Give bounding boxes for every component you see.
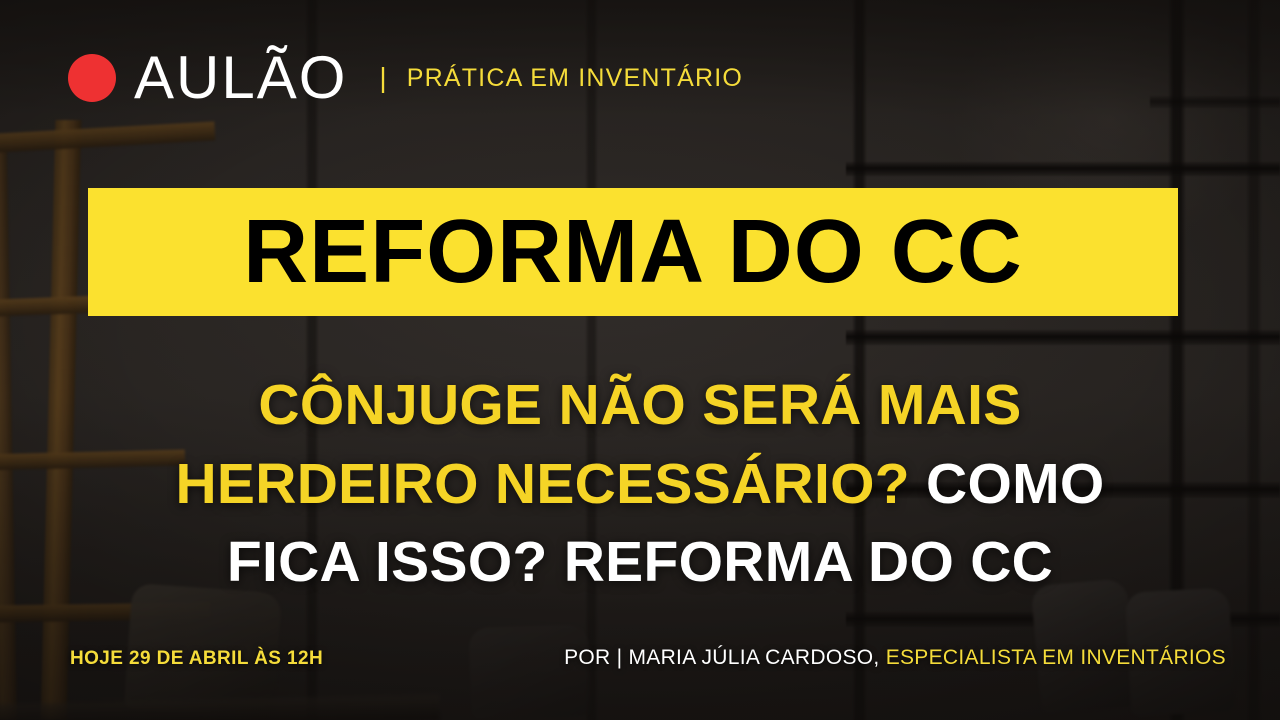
logo-separator: | <box>379 64 386 92</box>
event-date: HOJE 29 DE ABRIL ÀS 12H <box>70 648 323 670</box>
red-dot-icon <box>68 54 116 102</box>
headline-banner-text: REFORMA DO CC <box>243 207 1023 297</box>
main-headline: CÔNJUGE NÃO SERÁ MAIS HERDEIRO NECESSÁRI… <box>110 366 1170 602</box>
brand-tagline: PRÁTICA EM INVENTÁRIO <box>407 66 743 91</box>
brand-name: AULÃO <box>134 48 347 108</box>
speaker-name: POR | MARIA JÚLIA CARDOSO, <box>564 646 880 669</box>
poster-content: AULÃO | PRÁTICA EM INVENTÁRIO REFORMA DO… <box>0 0 1280 720</box>
speaker-role: ESPECIALISTA EM INVENTÁRIOS <box>880 646 1226 669</box>
promo-poster: AULÃO | PRÁTICA EM INVENTÁRIO REFORMA DO… <box>0 0 1280 720</box>
brand-logo-bar: AULÃO | PRÁTICA EM INVENTÁRIO <box>68 48 743 108</box>
headline-banner: REFORMA DO CC <box>88 188 1178 316</box>
headline-highlight: CÔNJUGE NÃO SERÁ MAIS HERDEIRO NECESSÁRI… <box>175 373 1021 516</box>
speaker-credit: POR | MARIA JÚLIA CARDOSO, ESPECIALISTA … <box>564 646 1226 670</box>
